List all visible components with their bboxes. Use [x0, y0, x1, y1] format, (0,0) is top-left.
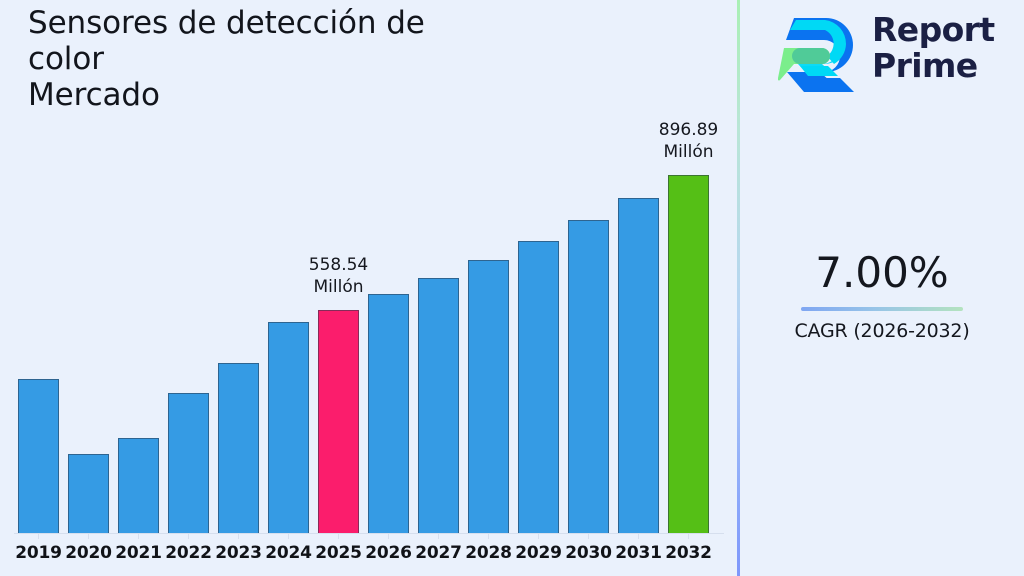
x-tick-2019 [38, 533, 39, 539]
x-axis-label-2027: 2027 [411, 543, 467, 563]
bar-fill-2022 [168, 393, 209, 533]
brand-wordmark: Report Prime [872, 12, 995, 83]
bar-fill-2023 [218, 363, 259, 533]
bar-2019[interactable] [18, 379, 59, 533]
x-tick-2028 [488, 533, 489, 539]
bar-2028[interactable] [468, 260, 509, 533]
bar-2021[interactable] [118, 438, 159, 533]
bar-2032[interactable] [668, 175, 709, 533]
bar-fill-2032 [668, 175, 709, 533]
bar-fill-2025 [318, 310, 359, 533]
bar-fill-2021 [118, 438, 159, 533]
info-panel: Report Prime 7.00% CAGR (2026-2032) [740, 0, 1024, 576]
x-axis-label-2031: 2031 [611, 543, 667, 563]
x-axis-label-2032: 2032 [661, 543, 717, 563]
x-tick-2020 [88, 533, 89, 539]
bar-2026[interactable] [368, 294, 409, 533]
x-axis-label-2025: 2025 [311, 543, 367, 563]
chart-panel: Sensores de detección de color Mercado 2… [0, 0, 738, 576]
cagr-divider-rule [801, 307, 963, 311]
cagr-caption: CAGR (2026-2032) [740, 320, 1024, 342]
bar-2024[interactable] [268, 322, 309, 533]
x-tick-2023 [238, 533, 239, 539]
x-axis-label-2022: 2022 [161, 543, 217, 563]
x-tick-2032 [688, 533, 689, 539]
bar-2023[interactable] [218, 363, 259, 533]
bar-chart-plot: 2019202020212022202320242025558.54 Milló… [0, 0, 738, 576]
bar-2031[interactable] [618, 198, 659, 533]
x-axis-label-2024: 2024 [261, 543, 317, 563]
bar-fill-2024 [268, 322, 309, 533]
bar-2029[interactable] [518, 241, 559, 533]
x-axis-line [14, 533, 724, 534]
bar-2030[interactable] [568, 220, 609, 533]
bar-fill-2030 [568, 220, 609, 533]
bar-2020[interactable] [68, 454, 109, 533]
x-axis-label-2019: 2019 [11, 543, 67, 563]
x-tick-2022 [188, 533, 189, 539]
bar-2027[interactable] [418, 278, 459, 533]
bar-fill-2031 [618, 198, 659, 533]
value-label-2025: 558.54 Millón [279, 255, 399, 299]
bar-fill-2027 [418, 278, 459, 533]
value-label-2032: 896.89 Millón [629, 120, 749, 164]
x-tick-2021 [138, 533, 139, 539]
x-axis-label-2028: 2028 [461, 543, 517, 563]
x-axis-label-2029: 2029 [511, 543, 567, 563]
x-axis-label-2023: 2023 [211, 543, 267, 563]
x-tick-2027 [438, 533, 439, 539]
x-axis-label-2020: 2020 [61, 543, 117, 563]
x-tick-2031 [638, 533, 639, 539]
bar-fill-2020 [68, 454, 109, 533]
bar-2022[interactable] [168, 393, 209, 533]
bar-fill-2029 [518, 241, 559, 533]
x-tick-2024 [288, 533, 289, 539]
x-tick-2026 [388, 533, 389, 539]
x-tick-2029 [538, 533, 539, 539]
bar-fill-2028 [468, 260, 509, 533]
cagr-value: 7.00% [740, 252, 1024, 294]
report-prime-logo-icon [778, 14, 860, 92]
x-tick-2025 [338, 533, 339, 539]
bar-fill-2019 [18, 379, 59, 533]
brand-logo: Report Prime [778, 10, 1018, 96]
x-axis-label-2026: 2026 [361, 543, 417, 563]
cagr-block: 7.00% CAGR (2026-2032) [740, 252, 1024, 342]
bar-fill-2026 [368, 294, 409, 533]
infographic-canvas: Sensores de detección de color Mercado 2… [0, 0, 1024, 576]
x-axis-label-2030: 2030 [561, 543, 617, 563]
x-tick-2030 [588, 533, 589, 539]
x-axis-label-2021: 2021 [111, 543, 167, 563]
bar-2025[interactable] [318, 310, 359, 533]
